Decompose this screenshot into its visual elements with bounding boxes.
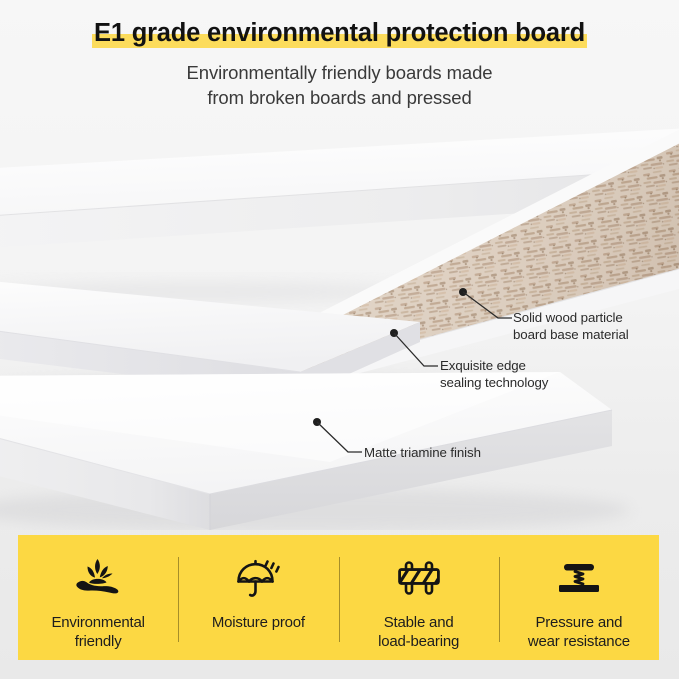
feature-3-line-2: wear resistance [528, 632, 630, 651]
feature-item-environmental-friendly[interactable]: Environmental friendly [18, 535, 178, 660]
feature-1-line-1: Moisture proof [212, 613, 305, 632]
subtitle: Environmentally friendly boards made fro… [0, 60, 679, 110]
callout-particle-core-line-2: board base material [513, 326, 629, 343]
feature-item-stable-load-bearing[interactable]: Stable and load-bearing [339, 535, 499, 660]
title-text: E1 grade environmental protection board [94, 19, 585, 47]
feature-3-line-1: Pressure and [528, 613, 630, 632]
feature-2-line-1: Stable and [378, 613, 459, 632]
callout-label-particle-core: Solid wood particle board base material [513, 309, 629, 343]
feature-item-moisture-proof[interactable]: Moisture proof [178, 535, 338, 660]
callout-edge-sealing-line-1: Exquisite edge [440, 357, 548, 374]
callout-label-matte-finish: Matte triamine finish [364, 444, 481, 461]
feature-label-environmental-friendly: Environmental friendly [51, 613, 144, 651]
feature-item-pressure-wear-resistance[interactable]: Pressure and wear resistance [499, 535, 659, 660]
feature-0-line-1: Environmental [51, 613, 144, 632]
barrier-icon [390, 552, 448, 604]
hand-plant-icon [69, 552, 127, 604]
header: E1 grade environmental protection board … [0, 0, 679, 120]
feature-label-moisture-proof: Moisture proof [212, 613, 305, 632]
subtitle-line-1: Environmentally friendly boards made [0, 60, 679, 85]
press-compression-icon [550, 552, 608, 604]
subtitle-line-2: from broken boards and pressed [0, 85, 679, 110]
callout-matte-finish-line-1: Matte triamine finish [364, 444, 481, 461]
callout-edge-sealing-line-2: sealing technology [440, 374, 548, 391]
feature-0-line-2: friendly [51, 632, 144, 651]
feature-label-stable-load-bearing: Stable and load-bearing [378, 613, 459, 651]
callout-label-edge-sealing: Exquisite edge sealing technology [440, 357, 548, 391]
callout-particle-core-line-1: Solid wood particle [513, 309, 629, 326]
umbrella-rain-icon [229, 552, 287, 604]
product-infographic: E1 grade environmental protection board … [0, 0, 679, 679]
feature-2-line-2: load-bearing [378, 632, 459, 651]
page-title: E1 grade environmental protection board [0, 16, 679, 50]
feature-label-pressure-wear-resistance: Pressure and wear resistance [528, 613, 630, 651]
feature-bar: Environmental friendly [18, 535, 659, 660]
